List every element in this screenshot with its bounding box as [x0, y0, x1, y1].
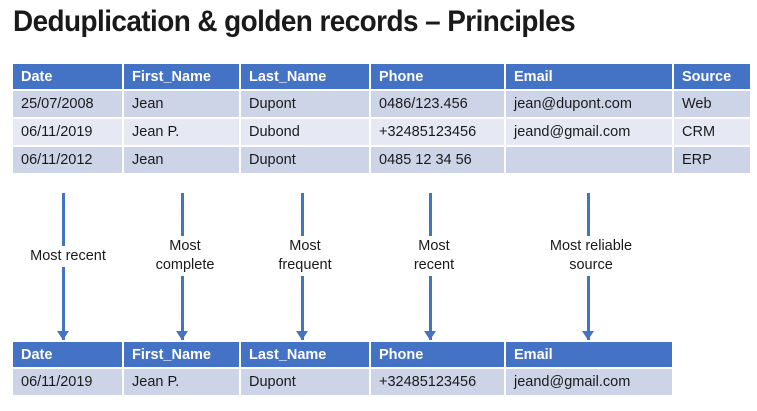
connector-arrowhead-last-name — [296, 331, 308, 340]
cell-source: CRM — [674, 119, 750, 145]
connector-label-phone: Most recent — [392, 236, 476, 276]
cell-email: jeand@gmail.com — [506, 119, 672, 145]
table-row: 06/11/2012 Jean Dupont 0485 12 34 56 ERP — [13, 147, 750, 173]
column-header-date[interactable]: Date — [13, 342, 122, 367]
connector-label-first-name: Most complete — [141, 236, 229, 276]
connector-label-date: Most recent — [12, 246, 124, 267]
column-header-last-name[interactable]: Last_Name — [241, 64, 369, 89]
connector-label-line: Most — [418, 238, 449, 254]
column-header-last-name[interactable]: Last_Name — [241, 342, 369, 367]
connector-label-line: Most — [169, 238, 200, 254]
cell-phone: +32485123456 — [371, 119, 504, 145]
column-header-phone[interactable]: Phone — [371, 64, 504, 89]
column-header-first-name[interactable]: First_Name — [124, 64, 239, 89]
column-header-first-name[interactable]: First_Name — [124, 342, 239, 367]
table-row: 06/11/2019 Jean P. Dubond +32485123456 j… — [13, 119, 750, 145]
cell-date: 25/07/2008 — [13, 91, 122, 117]
cell-phone: 0486/123.456 — [371, 91, 504, 117]
cell-source: ERP — [674, 147, 750, 173]
cell-date: 06/11/2019 — [13, 119, 122, 145]
cell-first-name: Jean P. — [124, 119, 239, 145]
connector-arrowhead-email — [582, 331, 594, 340]
golden-table-header-row: Date First_Name Last_Name Phone Email — [13, 342, 672, 367]
cell-date: 06/11/2012 — [13, 147, 122, 173]
cell-first-name: Jean — [124, 91, 239, 117]
connector-label-line: complete — [156, 257, 215, 273]
cell-first-name: Jean P. — [124, 369, 239, 395]
cell-phone: 0485 12 34 56 — [371, 147, 504, 173]
connector-arrowhead-date — [57, 331, 69, 340]
cell-phone: +32485123456 — [371, 369, 504, 395]
cell-date: 06/11/2019 — [13, 369, 122, 395]
cell-first-name: Jean — [124, 147, 239, 173]
golden-record-table: Date First_Name Last_Name Phone Email 06… — [11, 340, 674, 397]
cell-email: jeand@gmail.com — [506, 369, 672, 395]
connector-label-line: Most recent — [30, 248, 106, 264]
connector-label-email: Most reliable source — [511, 236, 671, 276]
source-records-table: Date First_Name Last_Name Phone Email So… — [11, 62, 752, 175]
column-header-phone[interactable]: Phone — [371, 342, 504, 367]
cell-last-name: Dubond — [241, 119, 369, 145]
connector-label-line: recent — [414, 257, 454, 273]
column-header-email[interactable]: Email — [506, 342, 672, 367]
cell-source: Web — [674, 91, 750, 117]
column-header-date[interactable]: Date — [13, 64, 122, 89]
cell-last-name: Dupont — [241, 369, 369, 395]
table-row: 06/11/2019 Jean P. Dupont +32485123456 j… — [13, 369, 672, 395]
cell-email — [506, 147, 672, 173]
cell-email: jean@dupont.com — [506, 91, 672, 117]
connector-arrowhead-first-name — [176, 331, 188, 340]
cell-last-name: Dupont — [241, 91, 369, 117]
source-table-header-row: Date First_Name Last_Name Phone Email So… — [13, 64, 750, 89]
connector-label-line: source — [569, 257, 613, 273]
connector-label-line: Most reliable — [550, 238, 632, 254]
column-header-email[interactable]: Email — [506, 64, 672, 89]
cell-last-name: Dupont — [241, 147, 369, 173]
column-header-source[interactable]: Source — [674, 64, 750, 89]
connector-arrowhead-phone — [424, 331, 436, 340]
connector-label-last-name: Most frequent — [261, 236, 349, 276]
connector-label-line: Most — [289, 238, 320, 254]
table-row: 25/07/2008 Jean Dupont 0486/123.456 jean… — [13, 91, 750, 117]
connector-label-line: frequent — [278, 257, 331, 273]
page-title: Deduplication & golden records – Princip… — [13, 2, 701, 42]
